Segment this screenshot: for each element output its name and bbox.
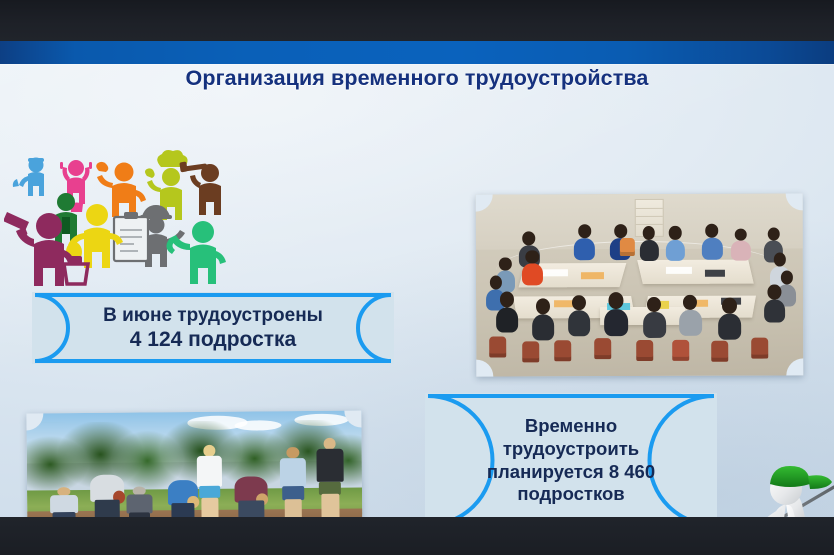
teen-bending-maroon (231, 476, 272, 517)
callout-text: В июне трудоустроены 4 124 подростка (87, 304, 339, 353)
teen-bending-blue (164, 480, 201, 517)
page-title: Организация временного трудоустройства (0, 66, 834, 91)
header-accent-band (0, 41, 834, 64)
callout-line-2: трудоустроить (487, 438, 655, 461)
presentation-screen: Организация временного трудоустройства (0, 0, 834, 555)
callout-line-2: 4 124 подростка (103, 327, 323, 353)
pictogram-waterer-green (166, 221, 226, 284)
callout-line-1: Временно (487, 415, 655, 438)
worker-professions-pictogram-group (4, 146, 236, 288)
photo-content (26, 411, 362, 517)
teen-crouching (47, 487, 81, 517)
photo-teens-workshop-tables (476, 193, 804, 376)
slide-canvas: Организация временного трудоустройства (0, 64, 834, 517)
planned-employment-callout: Временно трудоустроить планируется 8 460… (425, 393, 717, 517)
teen-standing-denim (278, 447, 309, 517)
employed-in-june-callout: В июне трудоустроены 4 124 подростка (32, 292, 394, 364)
pictogram-carpenter-brown (179, 161, 221, 215)
photo-content (476, 193, 804, 376)
pictogram-plumber-blue (13, 158, 44, 197)
callout-line-3: планируется 8 460 (487, 461, 655, 484)
teen-standing-dark (315, 437, 346, 517)
callout-line-4: подростков (487, 483, 655, 506)
teen-crouching-2 (124, 486, 155, 517)
gardener-body (745, 466, 832, 517)
callout-line-1: В июне трудоустроены (103, 304, 323, 327)
photo-teens-gardening (26, 411, 362, 517)
callout-text: Временно трудоустроить планируется 8 460… (471, 415, 671, 505)
gardener-mannequin-illustration (690, 446, 834, 517)
letterbox-top (0, 0, 834, 41)
teen-bending-grey (87, 475, 128, 517)
letterbox-bottom (0, 517, 834, 555)
